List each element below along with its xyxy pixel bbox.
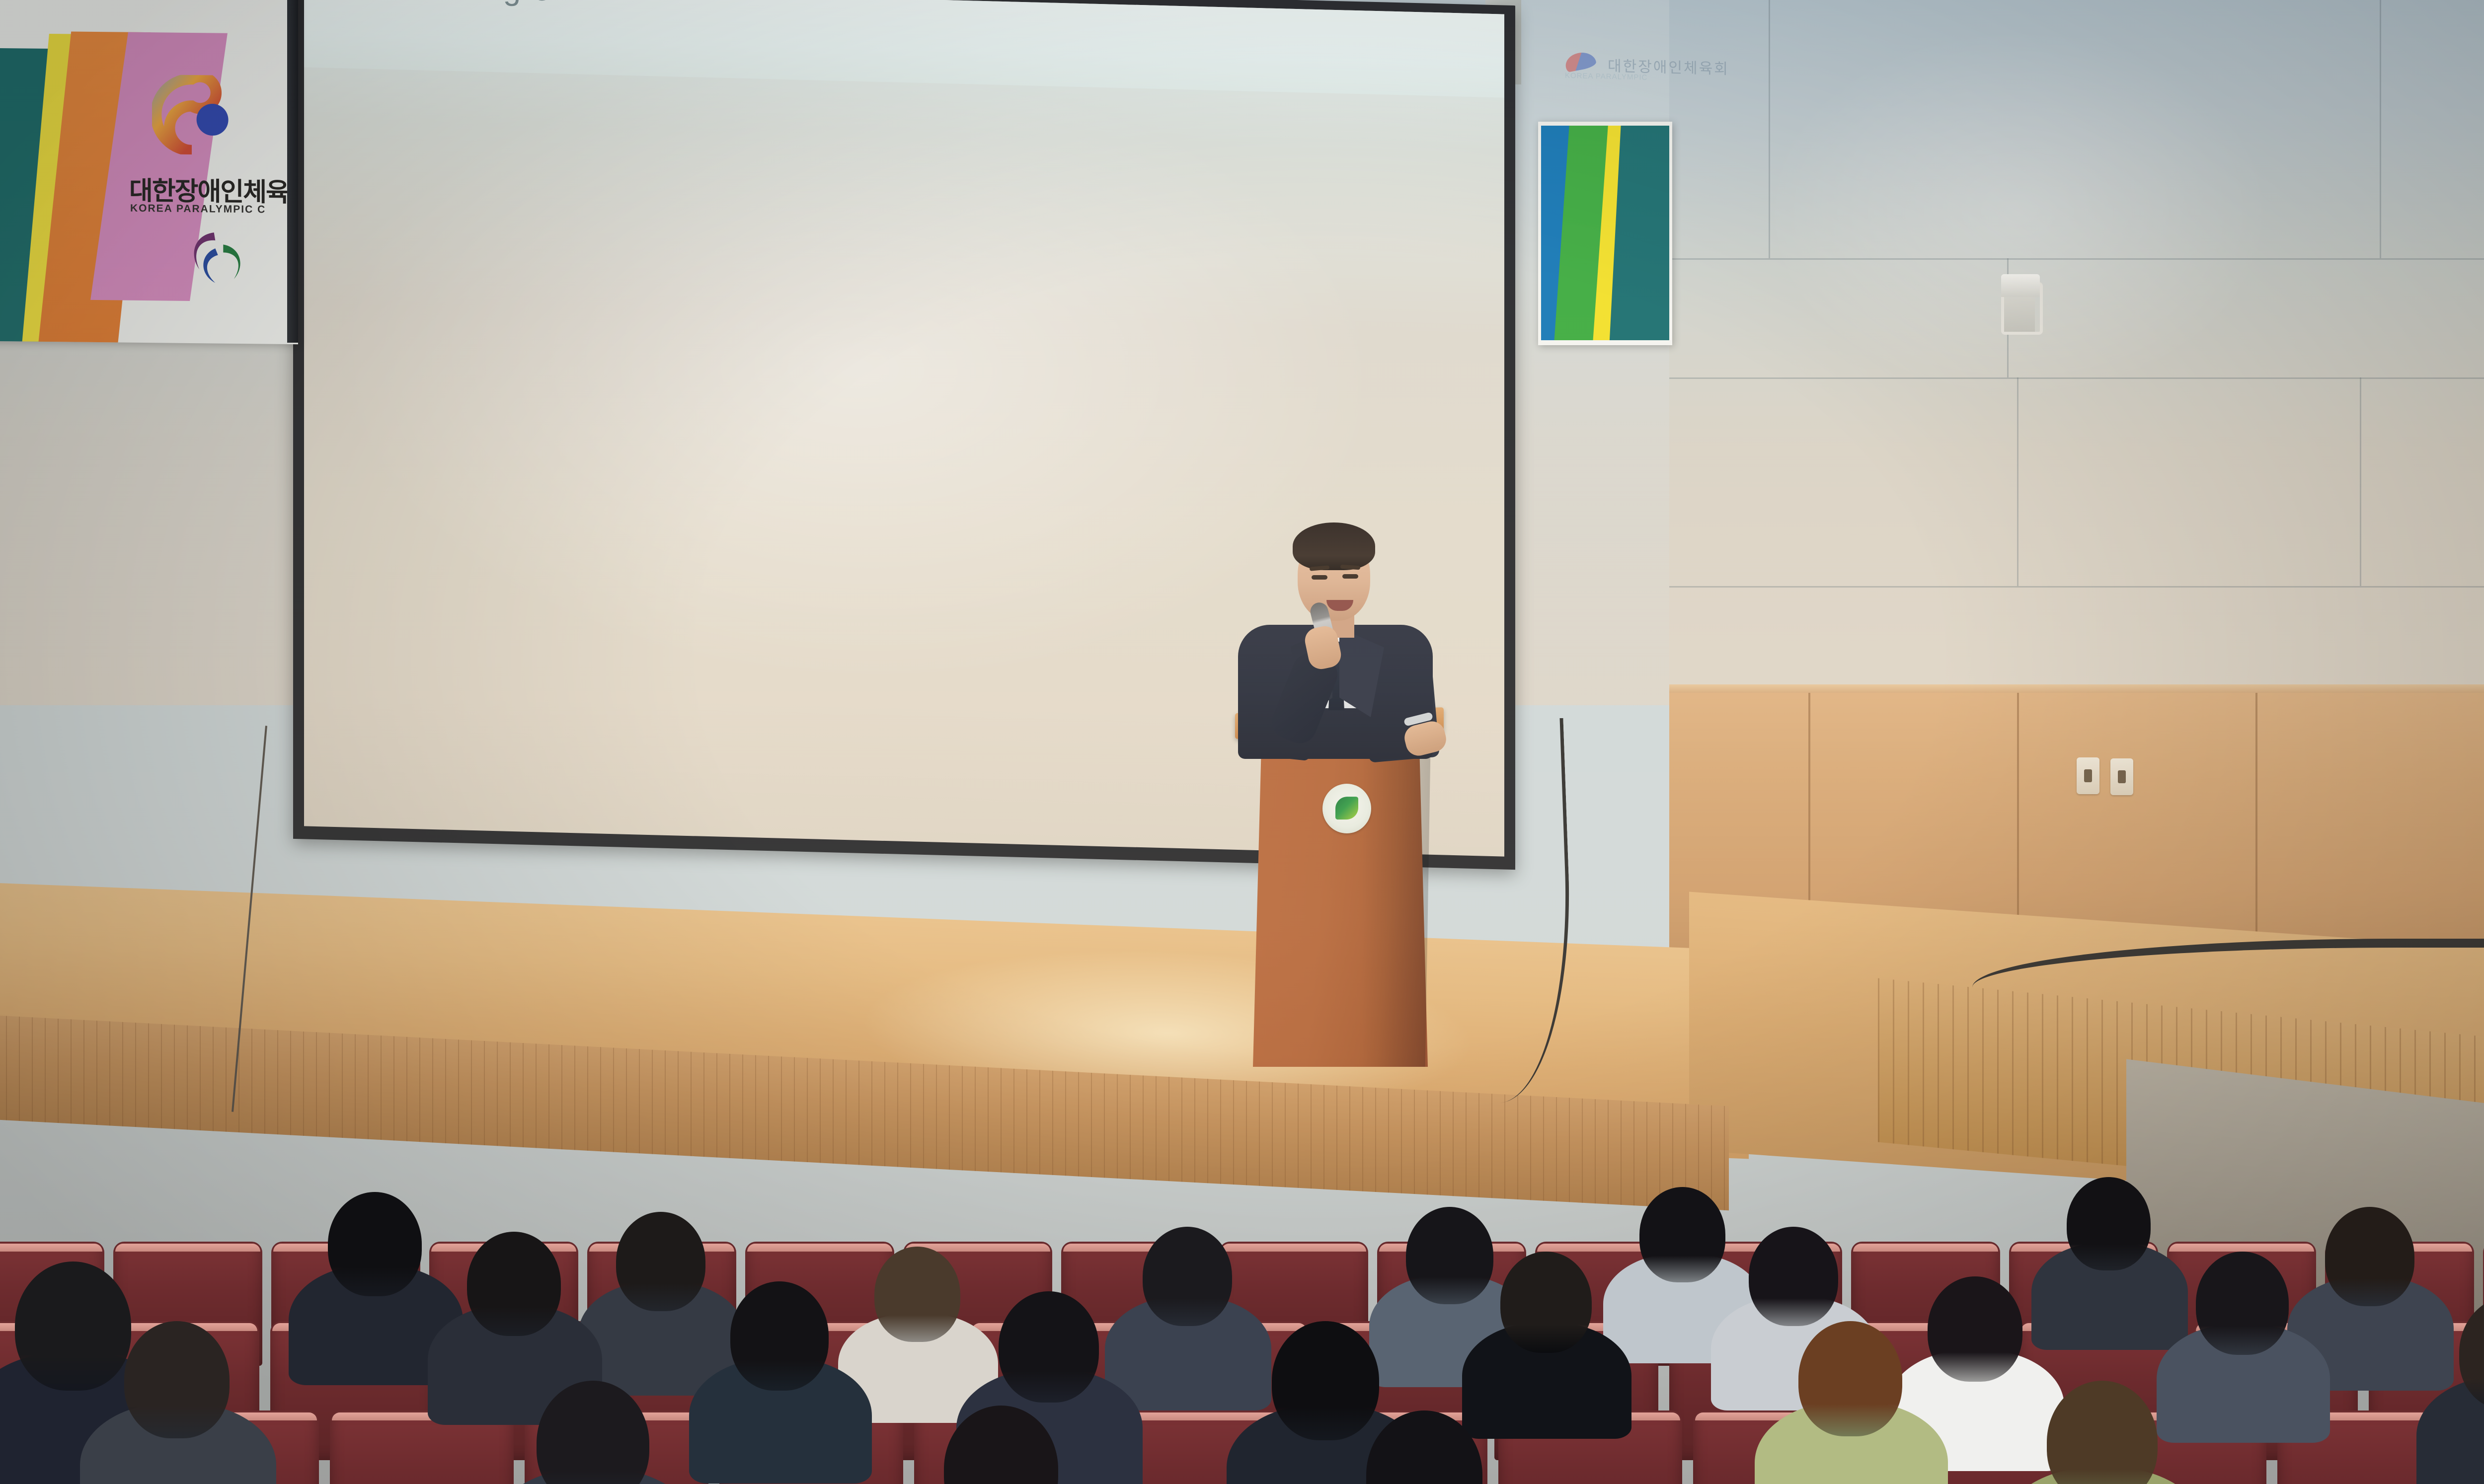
slide-logo-subtitle: KOREA PARALYMPIC — [1565, 72, 1647, 82]
taegeuk-logo-icon — [152, 74, 232, 155]
audience-member-head — [1749, 1227, 1838, 1326]
audience-member-head — [1798, 1321, 1902, 1436]
audience-member-head — [2067, 1177, 2151, 1270]
podium — [1247, 710, 1451, 1078]
decorative-flag-banner — [1538, 122, 1672, 345]
banner-english-name: KOREA PARALYMPIC C — [130, 203, 266, 216]
audience-member-head — [1928, 1276, 2022, 1382]
audience-section — [0, 1063, 2484, 1484]
wall-jack-left[interactable] — [2077, 757, 2099, 794]
podium-emblem-icon — [1322, 784, 1371, 833]
audience-member-head — [1406, 1207, 1493, 1304]
wall-jack-right[interactable] — [2110, 758, 2133, 795]
auditorium-photo: Black Eagle 대한장애인체육회 KOREA PARALYMPIC — [0, 0, 2484, 1484]
slide-corner-logo: 대한장애인체육회 KOREA PARALYMPIC — [1565, 50, 1774, 90]
screen-left-edge — [287, 0, 298, 343]
audience-member-head — [616, 1212, 705, 1311]
emergency-wall-light-icon — [2001, 274, 2047, 339]
audience-member-head — [1639, 1187, 1725, 1282]
audience-member-head — [15, 1261, 131, 1391]
audience-member-head — [328, 1192, 422, 1296]
audience-member-head — [124, 1321, 230, 1438]
audience-member-head — [874, 1247, 960, 1342]
audience-member-head — [1272, 1321, 1379, 1440]
swoosh-icon — [1563, 50, 1597, 73]
audience-member-head — [2325, 1207, 2414, 1306]
korea-paralympic-committee-banner: 대한장애인체육회 KOREA PARALYMPIC C — [0, 0, 298, 344]
paralympic-agitos-icon — [177, 224, 256, 295]
audience-member-head — [1500, 1252, 1592, 1353]
audience-member-head — [2196, 1252, 2289, 1355]
audience-member-head — [467, 1232, 561, 1336]
right-wall-stone — [1669, 0, 2484, 710]
presenter-hair — [1293, 522, 1375, 570]
presenter-at-podium — [1207, 512, 1466, 745]
audience-member-head — [1143, 1227, 1232, 1326]
audience-member-head — [730, 1281, 829, 1391]
audience-member-head — [999, 1291, 1099, 1403]
